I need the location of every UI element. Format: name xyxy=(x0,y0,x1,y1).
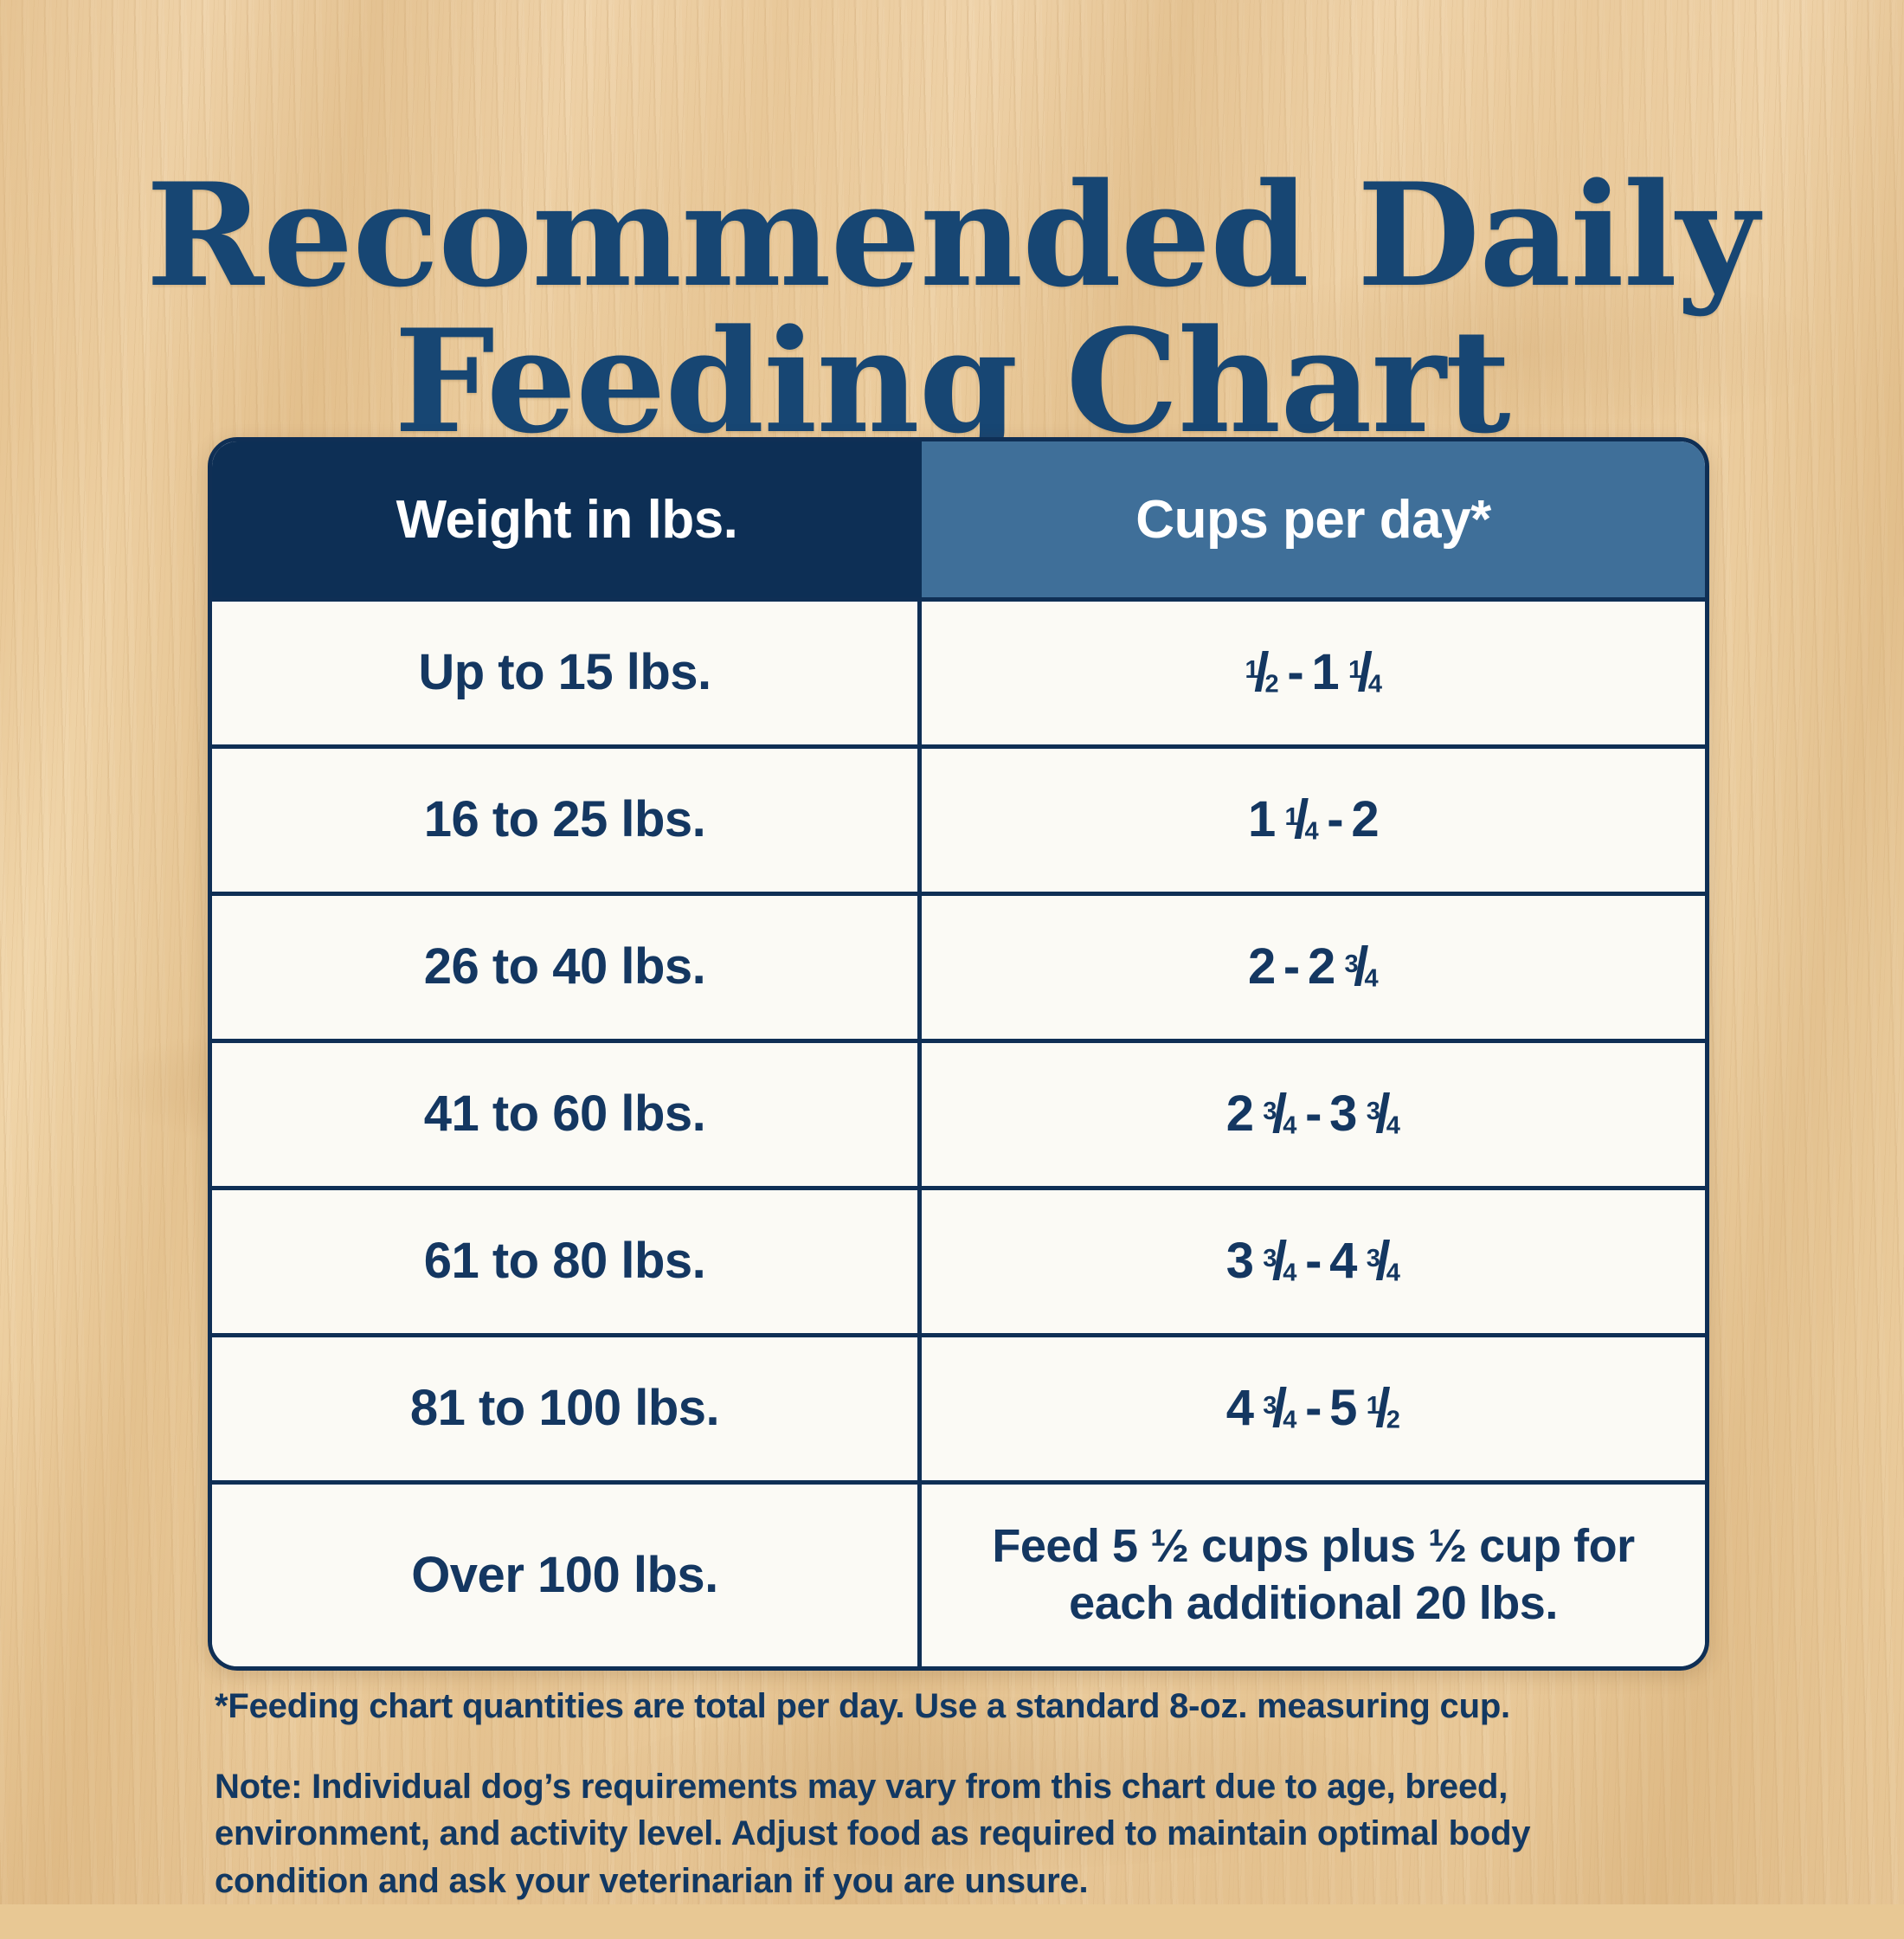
feeding-chart-page: Recommended Daily Feeding Chart Weight i… xyxy=(0,0,1904,1904)
table-row: Over 100 lbs. Feed 5 ½ cups plus ½ cup f… xyxy=(212,1480,1705,1666)
footnotes: *Feeding chart quantities are total per … xyxy=(215,1649,1703,1939)
cell-weight: 26 to 40 lbs. xyxy=(212,896,922,1039)
cell-cups: 2-23/4 xyxy=(922,896,1705,1039)
feeding-chart-table: Weight in lbs. Cups per day* Up to 15 lb… xyxy=(208,437,1709,1671)
cell-cups: 43/4-51/2 xyxy=(922,1337,1705,1480)
table-row: 61 to 80 lbs. 33/4-43/4 xyxy=(212,1186,1705,1333)
table-header-row: Weight in lbs. Cups per day* xyxy=(212,441,1705,597)
table-row: 26 to 40 lbs. 2-23/4 xyxy=(212,892,1705,1039)
cell-cups: 11/4-2 xyxy=(922,749,1705,892)
cell-cups: 1/2-11/4 xyxy=(922,602,1705,744)
column-header-cups: Cups per day* xyxy=(922,441,1705,597)
cell-weight: 16 to 25 lbs. xyxy=(212,749,922,892)
page-title: Recommended Daily Feeding Chart xyxy=(0,163,1904,455)
footnote-note-label: Note: xyxy=(215,1768,302,1806)
table-row: 41 to 60 lbs. 23/4-33/4 xyxy=(212,1039,1705,1186)
cell-weight: 61 to 80 lbs. xyxy=(212,1190,922,1333)
cell-cups: 33/4-43/4 xyxy=(922,1190,1705,1333)
cell-weight: 41 to 60 lbs. xyxy=(212,1043,922,1186)
footnote-note-body: Individual dog’s requirements may vary f… xyxy=(215,1768,1530,1900)
cell-cups: 23/4-33/4 xyxy=(922,1043,1705,1186)
column-header-weight: Weight in lbs. xyxy=(212,441,922,597)
table-row: 81 to 100 lbs. 43/4-51/2 xyxy=(212,1333,1705,1480)
cell-weight: Over 100 lbs. xyxy=(212,1485,922,1666)
footnote-note: Note: Individual dog’s requirements may … xyxy=(215,1763,1565,1904)
page-title-line-2: Feeding Chart xyxy=(0,309,1904,455)
footnote-asterisk: *Feeding chart quantities are total per … xyxy=(215,1684,1703,1729)
table-row: 16 to 25 lbs. 11/4-2 xyxy=(212,744,1705,892)
cell-weight: 81 to 100 lbs. xyxy=(212,1337,922,1480)
cell-weight: Up to 15 lbs. xyxy=(212,602,922,744)
table-row: Up to 15 lbs. 1/2-11/4 xyxy=(212,597,1705,744)
page-title-line-1: Recommended Daily xyxy=(0,163,1904,309)
cell-cups: Feed 5 ½ cups plus ½ cup for each additi… xyxy=(922,1485,1705,1666)
